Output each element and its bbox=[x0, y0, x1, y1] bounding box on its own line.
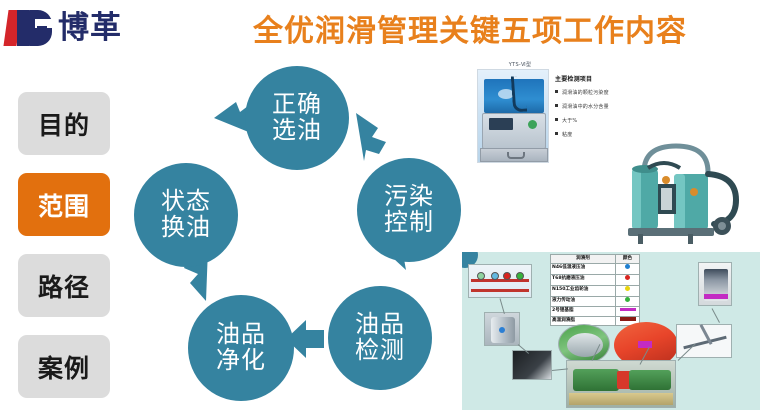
sidebar-item-purpose[interactable]: 目的 bbox=[18, 92, 110, 155]
equipment-closeup-photo bbox=[512, 350, 552, 380]
brand-logo: 博革 bbox=[6, 6, 166, 50]
gearbox-closeup-photo bbox=[558, 324, 610, 364]
cycle-node-condition-line2: 换油 bbox=[161, 215, 211, 241]
bullet-square-icon bbox=[555, 118, 558, 121]
table-row: N150工业齿轮油 bbox=[551, 285, 640, 296]
table-row: 2号锂基脂 bbox=[551, 307, 640, 316]
oil-analyzer-panel: YTS-Ⅵ型 主要检测项目 润滑油的颗粒污染度 润滑油中的水分含量 大于% 粘度 bbox=[463, 60, 631, 165]
sidebar-item-case[interactable]: 案例 bbox=[18, 335, 110, 398]
sidebar-item-path[interactable]: 路径 bbox=[18, 254, 110, 317]
oil-analyzer-photo bbox=[477, 69, 549, 163]
cycle-node-contamination-line1: 污染 bbox=[384, 184, 434, 210]
table-header-color: 颜色 bbox=[616, 255, 640, 264]
bullet-square-icon bbox=[555, 132, 558, 135]
cycle-node-select-oil-line1: 正确 bbox=[272, 92, 322, 118]
analyzer-device-label: YTS-Ⅵ型 bbox=[485, 61, 555, 68]
cycle-node-condition-line1: 状态 bbox=[161, 189, 211, 215]
page-title: 全优润滑管理关键五项工作内容 bbox=[196, 6, 744, 50]
cycle-node-condition-based-oil-change[interactable]: 状态 换油 bbox=[134, 163, 238, 267]
grease-can-photo bbox=[698, 262, 732, 306]
sidebar: 目的 范围 路径 案例 bbox=[18, 92, 110, 398]
bg-logo-mark-icon bbox=[6, 8, 52, 48]
table-row: 高温润滑脂 bbox=[551, 316, 640, 325]
bullet-square-icon bbox=[555, 90, 558, 93]
table-row: N46低温液压油 bbox=[551, 263, 640, 274]
sidebar-item-scope[interactable]: 范围 bbox=[18, 173, 110, 236]
lubricant-color-table: 润滑剂 颜色 N46低温液压油 T68抗磨液压油 N150工业齿轮油 液力传动油… bbox=[550, 254, 640, 326]
slide-canvas: 博革 全优润滑管理关键五项工作内容 目的 范围 路径 案例 正确 选油 污染 控 bbox=[0, 0, 760, 411]
lubrication-cycle-diagram: 正确 选油 污染 控制 油品 检测 油品 净化 状态 换油 bbox=[128, 58, 468, 403]
color-swatch bbox=[616, 296, 640, 307]
analyzer-spec-item: 大于% bbox=[555, 117, 629, 124]
cycle-node-contamination-line2: 控制 bbox=[384, 210, 434, 236]
analyzer-spec-item: 润滑油中的水分含量 bbox=[555, 103, 629, 110]
cycle-node-oil-purification-line1: 油品 bbox=[216, 322, 266, 348]
leader-line bbox=[712, 308, 720, 323]
cycle-node-oil-purification[interactable]: 油品 净化 bbox=[188, 295, 294, 401]
cycle-node-oil-testing-line1: 油品 bbox=[355, 312, 405, 338]
oil-filter-cart-photo bbox=[618, 128, 760, 253]
color-swatch bbox=[616, 285, 640, 296]
analyzer-spec-item: 润滑油的颗粒污染度 bbox=[555, 89, 629, 96]
cycle-node-oil-testing-line2: 检测 bbox=[355, 338, 405, 364]
cycle-node-oil-purification-line2: 净化 bbox=[216, 348, 266, 374]
cycle-node-oil-testing[interactable]: 油品 检测 bbox=[328, 286, 432, 390]
bullet-square-icon bbox=[555, 104, 558, 107]
table-row: T68抗磨液压油 bbox=[551, 274, 640, 285]
brand-name: 博革 bbox=[58, 13, 122, 44]
color-swatch bbox=[616, 307, 640, 316]
table-header-row: 润滑剂 颜色 bbox=[551, 255, 640, 264]
oil-filter-cart-panel bbox=[618, 128, 760, 260]
table-header-lubricant: 润滑剂 bbox=[551, 255, 616, 264]
oil-drum-photo bbox=[484, 312, 520, 346]
table-row: 液力传动油 bbox=[551, 296, 640, 307]
lubricant-color-coding-panel: 润滑剂 颜色 N46低温液压油 T68抗磨液压油 N150工业齿轮油 液力传动油… bbox=[462, 252, 760, 410]
color-swatch bbox=[616, 263, 640, 274]
pump-machine-photo bbox=[566, 360, 676, 408]
piping-diagram-photo bbox=[468, 264, 532, 298]
analyzer-spec-heading: 主要检测项目 bbox=[555, 74, 629, 83]
cycle-node-contamination-control[interactable]: 污染 控制 bbox=[357, 158, 461, 262]
color-swatch bbox=[616, 274, 640, 285]
cycle-node-select-oil-line2: 选油 bbox=[272, 118, 322, 144]
cycle-node-select-oil[interactable]: 正确 选油 bbox=[245, 66, 349, 170]
